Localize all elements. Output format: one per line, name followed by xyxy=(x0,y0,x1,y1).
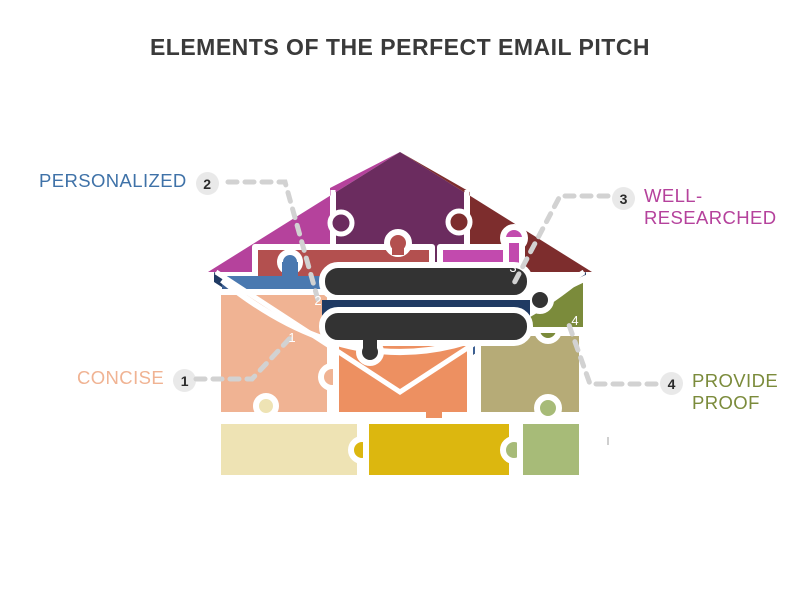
marker-3: 3 xyxy=(509,260,516,275)
body-piece-cream[interactable] xyxy=(218,421,360,478)
envelope-puzzle-graphic: 1 2 3 4 xyxy=(0,0,800,600)
marker-4: 4 xyxy=(571,313,578,328)
letter-bar-2-knob-neck xyxy=(363,336,377,354)
letter-text-bar-1[interactable] xyxy=(322,265,530,298)
letter-text-bar-2[interactable] xyxy=(322,310,530,343)
marker-1: 1 xyxy=(288,330,295,345)
khaki-knob-bottom xyxy=(537,397,559,419)
body-piece-sage[interactable] xyxy=(520,421,582,478)
flap-socket-right xyxy=(448,211,470,233)
letter-bar-1-knob xyxy=(529,289,551,311)
flap-socket-left xyxy=(330,212,352,234)
body-piece-gold[interactable] xyxy=(366,421,512,478)
decorative-tick xyxy=(607,437,609,445)
peach-knob-bottom xyxy=(256,396,276,416)
marker-2: 2 xyxy=(314,293,321,308)
